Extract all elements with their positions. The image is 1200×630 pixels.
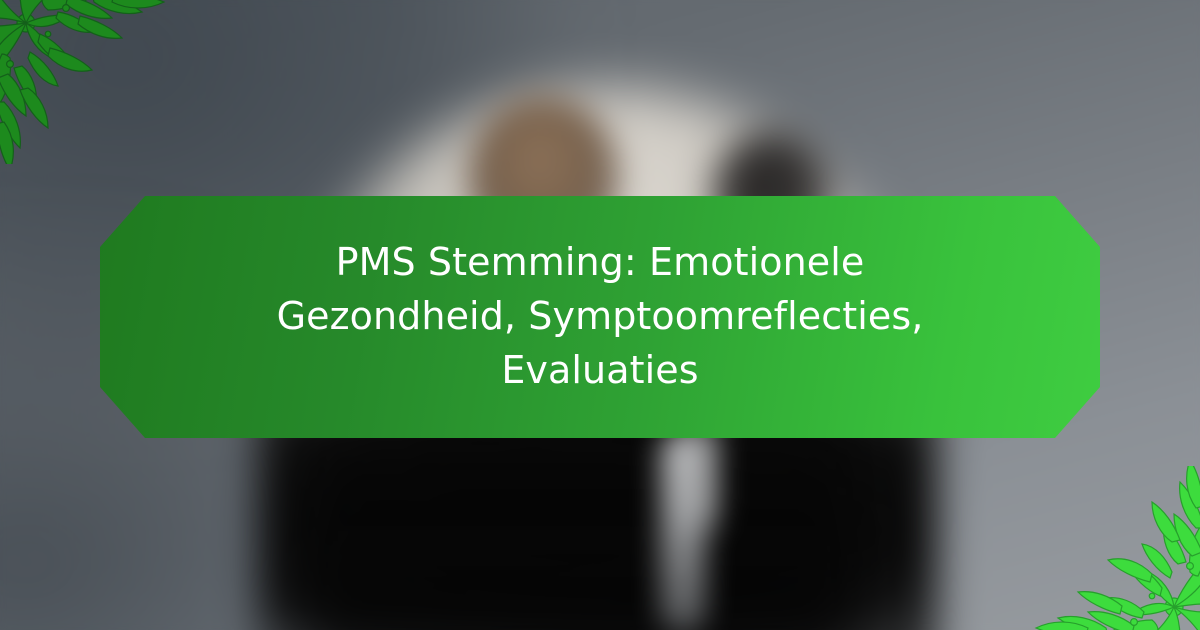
title-banner: PMS Stemming: Emotionele Gezondheid, Sym… (100, 196, 1100, 438)
share-card-canvas: PMS Stemming: Emotionele Gezondheid, Sym… (0, 0, 1200, 630)
page-title: PMS Stemming: Emotionele Gezondheid, Sym… (250, 236, 950, 398)
